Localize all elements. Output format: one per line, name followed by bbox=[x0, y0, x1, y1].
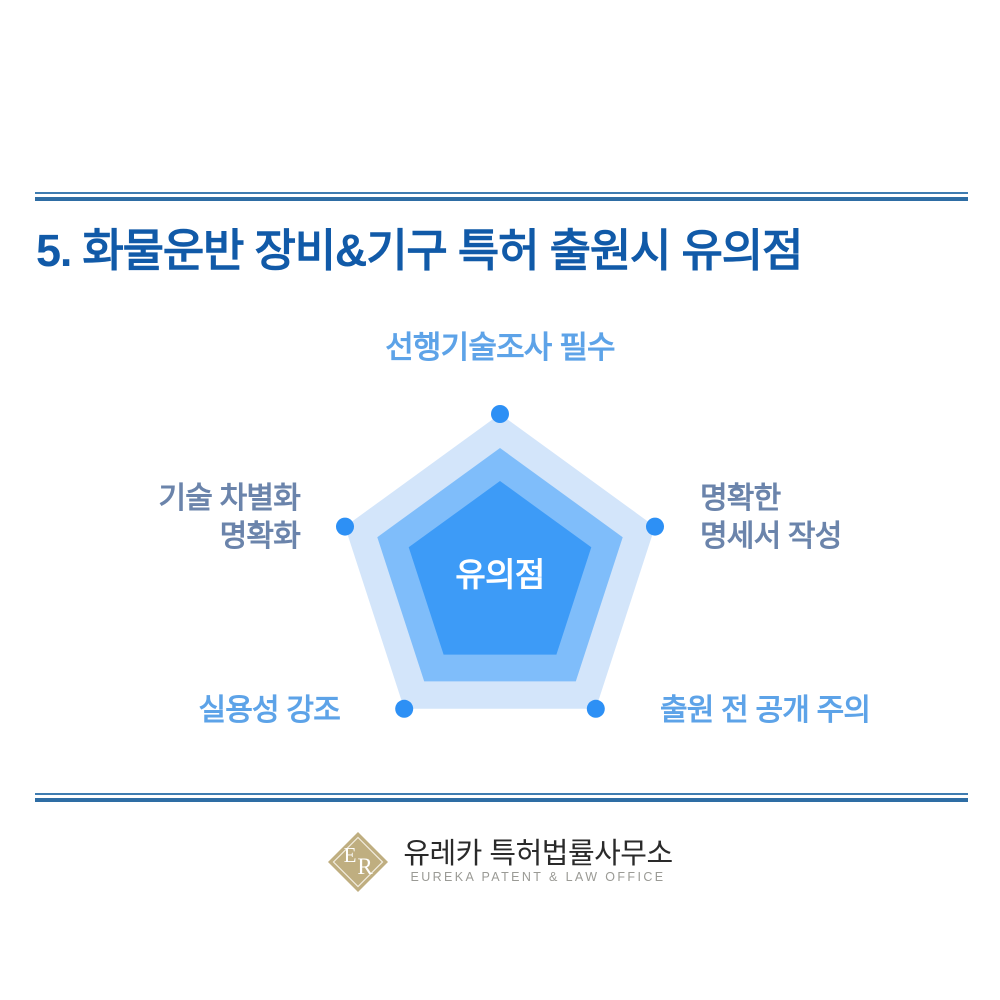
logo-monogram-r: R bbox=[358, 854, 374, 879]
vertex-dot-right bbox=[646, 518, 664, 536]
divider-bottom bbox=[35, 793, 968, 802]
diamond-logo-svg: E R bbox=[327, 831, 389, 893]
page-title: 5. 화물운반 장비&기구 특허 출원시 유의점 bbox=[36, 224, 966, 277]
divider-bottom-thick-rule bbox=[35, 798, 968, 802]
node-label-left: 기술 차별화 명확화 bbox=[20, 480, 300, 557]
vertex-dot-left bbox=[336, 518, 354, 536]
divider-top bbox=[35, 192, 968, 201]
node-label-left-line-2: 명확화 bbox=[20, 518, 300, 556]
node-label-left-line-1: 기술 차별화 bbox=[20, 480, 300, 518]
slide-root: 5. 화물운반 장비&기구 특허 출원시 유의점 유의점 선행기술조사 필수 명… bbox=[0, 0, 1000, 1000]
logo-text-block: 유레카 특허법률사무소 EUREKA PATENT & LAW OFFICE bbox=[403, 840, 672, 884]
divider-top-thick-rule bbox=[35, 197, 968, 201]
node-label-bottom-left: 실용성 강조 bbox=[40, 692, 340, 730]
footer-logo: E R 유레카 특허법률사무소 EUREKA PATENT & LAW OFFI… bbox=[0, 822, 1000, 902]
pentagon-diagram: 유의점 선행기술조사 필수 명확한 명세서 작성 출원 전 공개 주의 실용성 … bbox=[0, 300, 1000, 780]
divider-bottom-thin-rule bbox=[35, 793, 968, 795]
logo-name-english: EUREKA PATENT & LAW OFFICE bbox=[410, 871, 665, 884]
vertex-dot-top bbox=[491, 405, 509, 423]
pentagon-center-label: 유의점 bbox=[400, 548, 600, 596]
node-label-right: 명확한 명세서 작성 bbox=[700, 480, 980, 557]
node-label-bottom-right-line-1: 출원 전 공개 주의 bbox=[660, 692, 960, 730]
node-label-bottom-right: 출원 전 공개 주의 bbox=[660, 692, 960, 730]
eureka-diamond-logo-icon: E R bbox=[327, 831, 389, 893]
node-label-right-line-1: 명확한 bbox=[700, 480, 980, 518]
vertex-dot-bottom-right bbox=[587, 700, 605, 718]
logo-name-korean: 유레카 특허법률사무소 bbox=[403, 840, 672, 869]
divider-top-thin-rule bbox=[35, 192, 968, 194]
node-label-top-line-1: 선행기술조사 필수 bbox=[250, 328, 750, 368]
logo-monogram-e: E bbox=[344, 843, 357, 867]
vertex-dot-bottom-left bbox=[395, 700, 413, 718]
node-label-bottom-left-line-1: 실용성 강조 bbox=[40, 692, 340, 730]
node-label-top: 선행기술조사 필수 bbox=[250, 328, 750, 368]
node-label-right-line-2: 명세서 작성 bbox=[700, 518, 980, 556]
